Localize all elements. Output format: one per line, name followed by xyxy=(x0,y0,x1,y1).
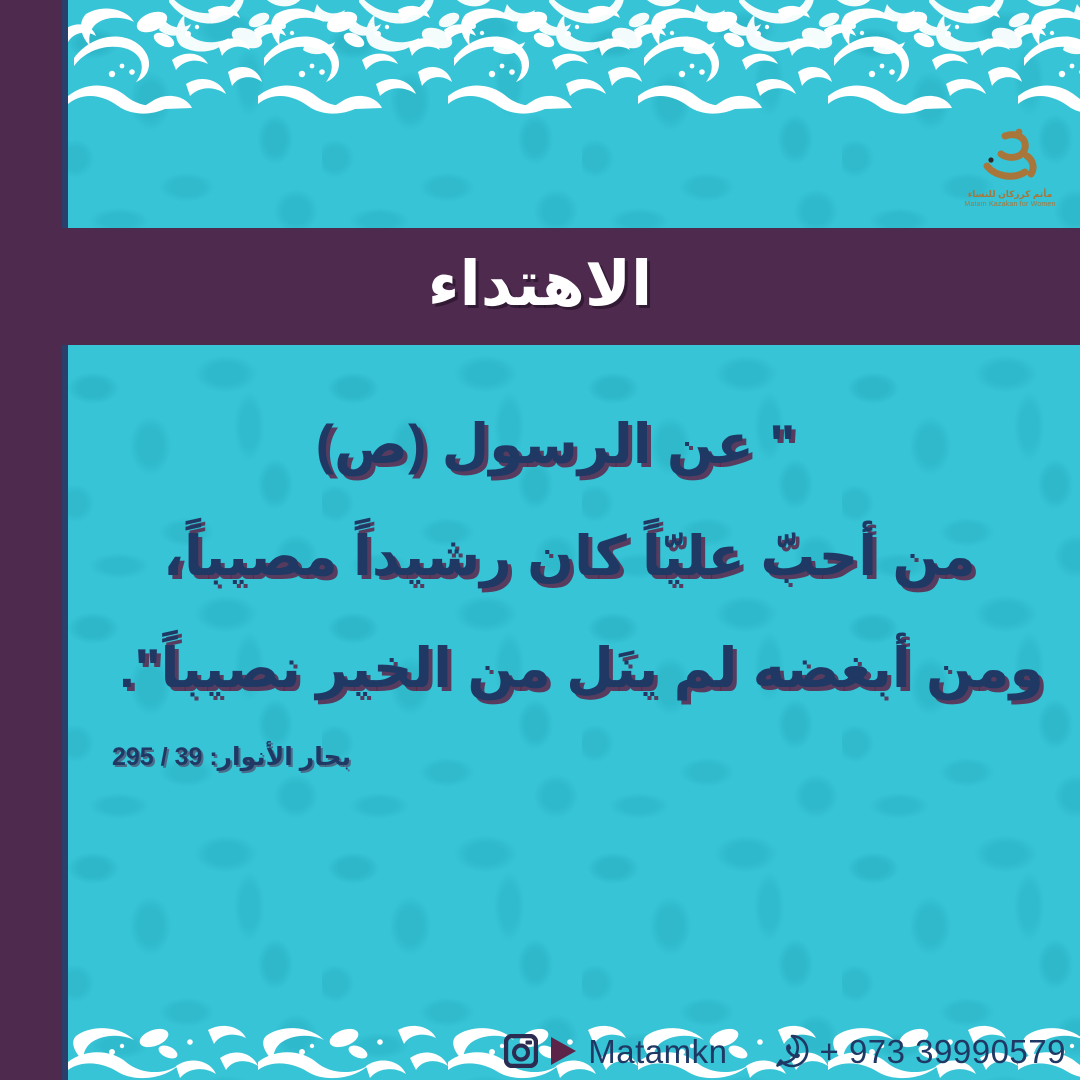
source-citation: بحار الأنوار: 39 / 295 xyxy=(112,742,351,772)
poster-canvas: مأتم كرزكان للنساء Matam Kazakan for Wom… xyxy=(0,0,1080,1080)
instagram-icon[interactable] xyxy=(504,1034,538,1068)
quote-line-3: ومن أبغضه لم ينَل من الخير نصيباً". xyxy=(80,612,1065,724)
whatsapp-group[interactable]: + 973 39990579 xyxy=(774,1033,1067,1069)
main-left-rule xyxy=(62,345,68,1080)
title-band: الاهتداء xyxy=(0,228,1080,345)
logo-calligraphy-mark xyxy=(975,126,1045,188)
quote-line-1: " عن الرسول (ص) xyxy=(80,388,1065,500)
logo-name-english: Matam Kazakan for Women xyxy=(948,200,1072,209)
organization-logo: مأتم كرزكان للنساء Matam Kazakan for Wom… xyxy=(948,126,1072,226)
left-purple-rail xyxy=(0,0,62,1080)
whatsapp-number-text: + 973 39990579 xyxy=(820,1035,1067,1068)
whatsapp-icon[interactable] xyxy=(774,1033,810,1069)
social-handle-group[interactable]: Matamkn xyxy=(504,1034,727,1068)
logo-name-arabic: مأتم كرزكان للنساء xyxy=(948,189,1072,200)
footer-contact-bar: Matamkn + 973 39990579 xyxy=(62,1022,1080,1080)
hadith-quote: " عن الرسول (ص) من أحبّ عليّاً كان رشيدا… xyxy=(80,388,1065,724)
play-triangle-icon[interactable] xyxy=(548,1035,578,1067)
page-title: الاهتداء xyxy=(428,254,652,316)
social-handle-text: Matamkn xyxy=(588,1035,727,1068)
ornament-border-top xyxy=(68,0,1080,122)
quote-line-2: من أحبّ عليّاً كان رشيداً مصيباً، xyxy=(80,500,1065,612)
